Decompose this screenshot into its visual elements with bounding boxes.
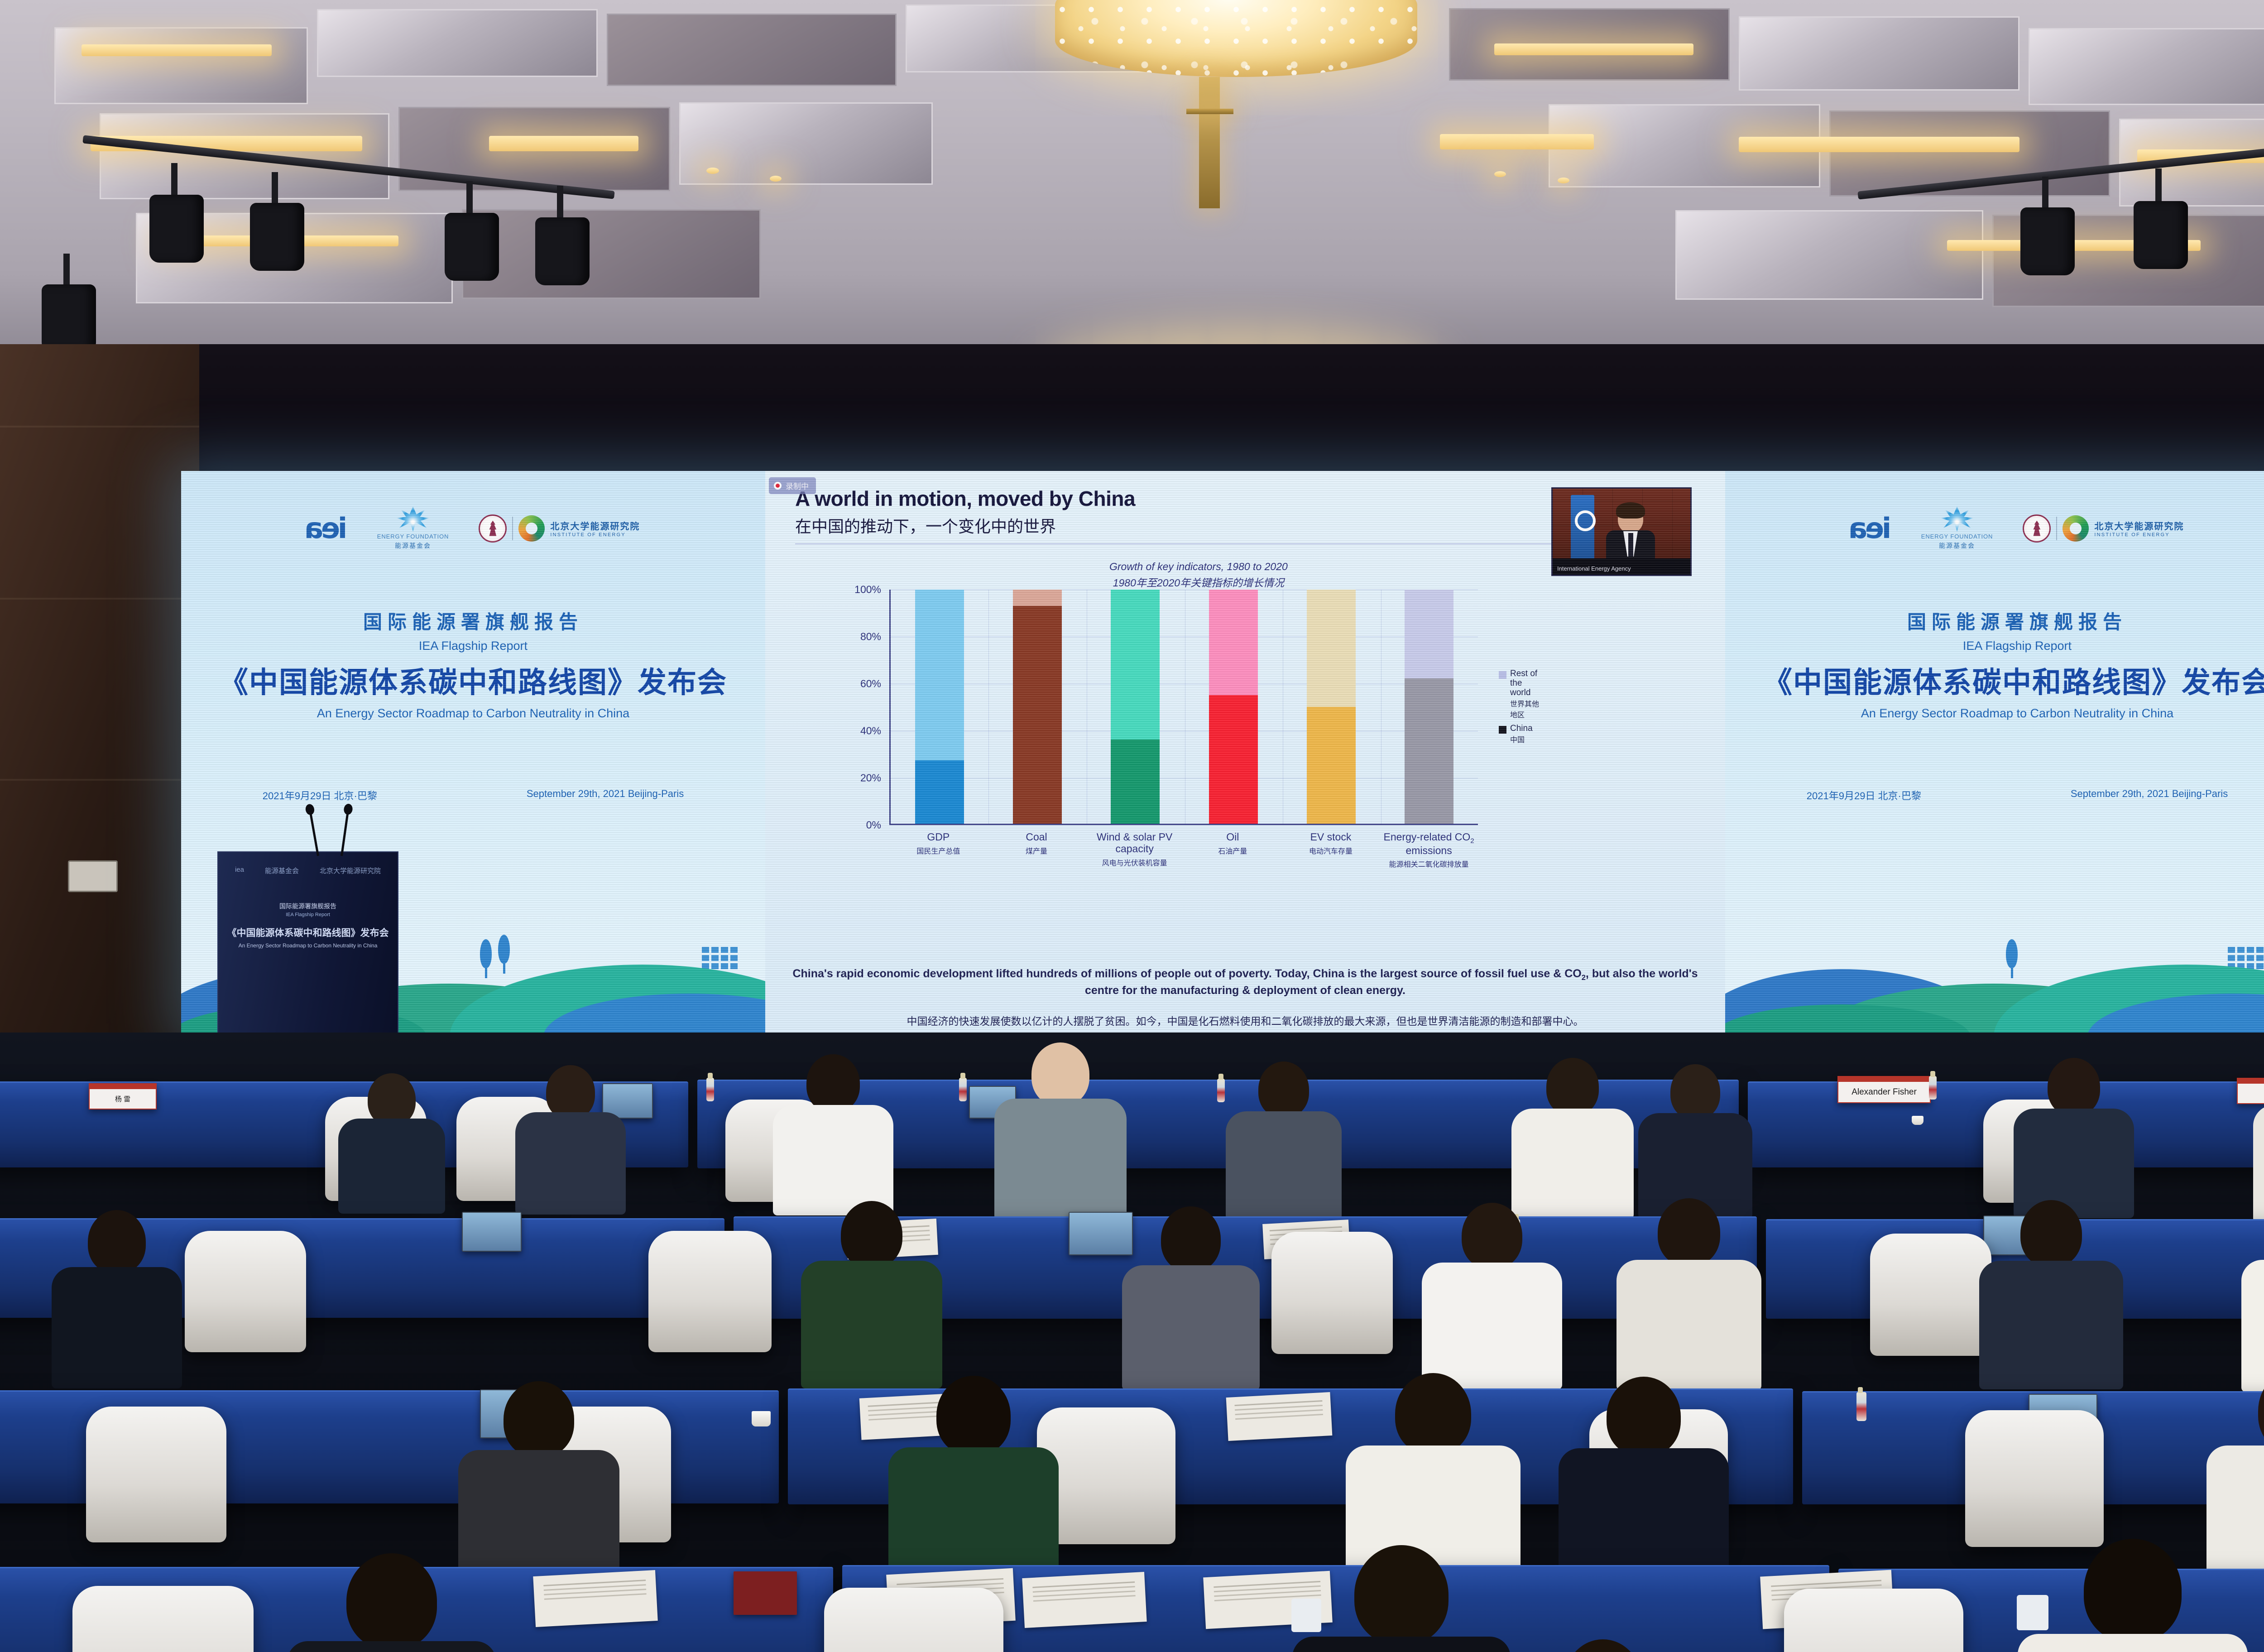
logo-row: iea ENERGY FOUNDATION 能源基金会 北京大学能源研究院 IN… — [181, 506, 765, 550]
tea-cup — [752, 1411, 771, 1426]
x-axis-label: EV stock电动汽车存量 — [1283, 831, 1378, 869]
bar-column — [1405, 590, 1453, 824]
attendee — [2010, 1058, 2137, 1214]
conference-hall-photo: iea ENERGY FOUNDATION 能源基金会 北京大学能源研究院 IN… — [0, 0, 2264, 1652]
podium-logo-pku: 北京大学能源研究院 — [320, 866, 381, 875]
podium-logo-ef: 能源基金会 — [265, 866, 299, 875]
chart-title-cn: 1980年至2020年关键指标的增长情况 — [1109, 574, 1288, 590]
growth-indicators-chart: 0% 20% 40% 60% 80% 100% — [833, 590, 1540, 866]
x-axis-label: Oil石油产量 — [1185, 831, 1280, 869]
podium-line2-en: An Energy Sector Roadmap to Carbon Neutr… — [218, 942, 398, 949]
podium-text-block: 国际能源署旗舰报告 IEA Flagship Report 《中国能源体系碳中和… — [218, 902, 398, 949]
pku-seal-icon — [2023, 514, 2051, 543]
attendee — [770, 1054, 897, 1211]
attendee — [335, 1073, 448, 1209]
attendee — [1974, 1200, 2128, 1384]
attendee — [1223, 1061, 1345, 1215]
energy-foundation-cn: 能源基金会 — [1939, 541, 1975, 550]
panel-line2-cn: 《中国能源体系碳中和路线图》发布会 — [1725, 659, 2264, 701]
bar-column — [1013, 590, 1062, 824]
led-video-wall: iea ENERGY FOUNDATION 能源基金会 北京大学能源研究院 IN… — [181, 471, 2264, 1037]
x-label-cn: 能源相关二氧化碳排放量 — [1381, 858, 1477, 869]
panel-title-block: 国际能源署旗舰报告 IEA Flagship Report 《中国能源体系碳中和… — [181, 607, 765, 720]
energy-foundation-logo: ENERGY FOUNDATION 能源基金会 — [1921, 506, 1993, 550]
ceiling-coffer — [54, 27, 308, 104]
date-en: September 29th, 2021 Beijing-Paris — [527, 788, 684, 802]
attendee — [2010, 1539, 2255, 1652]
podium-line1-en: IEA Flagship Report — [218, 912, 398, 917]
downlight — [1494, 171, 1506, 177]
x-label-cn: 石油产量 — [1185, 845, 1280, 856]
audience-floor: 杨 雷 Alexander Fisher — [0, 1032, 2264, 1652]
laptop[interactable] — [462, 1212, 522, 1252]
ceiling-coffer — [607, 14, 897, 86]
pku-institute-of-energy-logo: 北京大学能源研究院 INSTITUTE OF ENERGY — [479, 514, 640, 543]
chandelier-crystals — [1055, 0, 1417, 77]
y-tick: 0% — [866, 819, 881, 831]
face-mask — [2017, 1595, 2048, 1630]
panel-line2-en: An Energy Sector Roadmap to Carbon Neutr… — [1725, 706, 2264, 720]
attendee — [1417, 1203, 1567, 1383]
led-center-slide-panel: 录制中 A world in motion, moved by China 在中… — [765, 471, 1725, 1037]
energy-foundation-cn: 能源基金会 — [395, 541, 431, 550]
energy-foundation-en: ENERGY FOUNDATION — [377, 533, 449, 540]
podium-logo-iea: iea — [235, 866, 244, 875]
water-bottle — [1856, 1392, 1866, 1421]
slide-divider — [795, 543, 1683, 544]
recording-badge: 录制中 — [769, 477, 816, 494]
cove-light — [1440, 134, 1594, 149]
downlight — [1558, 178, 1569, 183]
attendee — [512, 1065, 629, 1210]
slide-caption-cn: 中国经济的快速发展使数以亿计的人摆脱了贫困。如今，中国是化石燃料使用和二氧化碳排… — [781, 1013, 1710, 1028]
solar-panel-icon — [702, 947, 738, 969]
stage-spotlight — [250, 203, 304, 271]
attendee — [1118, 1206, 1263, 1384]
attendee — [2250, 1051, 2264, 1217]
x-label-cn: 国民生产总值 — [891, 845, 986, 856]
tea-cup — [1912, 1116, 1923, 1125]
stage-spotlight — [2134, 201, 2188, 269]
panel-line2-en: An Energy Sector Roadmap to Carbon Neutr… — [181, 706, 765, 720]
attendee — [1508, 1639, 1698, 1652]
cove-light — [1739, 137, 2019, 152]
energy-burst-icon — [1940, 506, 1974, 532]
attendee — [2237, 1196, 2264, 1385]
stage-spotlight — [42, 284, 96, 352]
legend-swatch — [1499, 671, 1506, 679]
panel-line1-en: IEA Flagship Report — [181, 639, 765, 653]
stage-spotlight — [535, 217, 590, 285]
bar-segment-china — [1209, 695, 1258, 824]
landscape-graphic — [1725, 888, 2264, 1037]
stage-spotlight — [2020, 207, 2075, 275]
attendee — [797, 1201, 946, 1382]
logo-divider — [512, 517, 513, 540]
energy-foundation-en: ENERGY FOUNDATION — [1921, 533, 1993, 540]
logo-row: iea ENERGY FOUNDATION 能源基金会 北京大学能源研究院 IN… — [1725, 506, 2264, 550]
bar-segment-china — [1405, 678, 1453, 824]
chart-legend: Rest of the world 世界其他地区 China 中国 — [1499, 669, 1540, 749]
wall-control-panel[interactable] — [68, 860, 118, 892]
bar-segment-china — [1013, 606, 1062, 824]
bar-column — [1307, 590, 1356, 824]
chair[interactable] — [86, 1407, 226, 1542]
chair[interactable] — [185, 1231, 306, 1352]
date-en: September 29th, 2021 Beijing-Paris — [2071, 788, 2228, 802]
podium-line1-cn: 国际能源署旗舰报告 — [218, 902, 398, 911]
energy-burst-icon — [396, 506, 430, 532]
legend-label-cn: 世界其他地区 — [1510, 698, 1540, 720]
x-label-cn: 煤产量 — [989, 845, 1084, 856]
legend-label-en: Rest of the world — [1510, 669, 1540, 698]
chart-title-en: Growth of key indicators, 1980 to 2020 — [1109, 561, 1288, 573]
cove-light — [82, 44, 272, 56]
x-axis-label: Energy-related CO2 emissions能源相关二氧化碳排放量 — [1381, 831, 1477, 869]
attendee — [1286, 1545, 1517, 1652]
ceiling-coffer — [2029, 28, 2264, 105]
panel-line1-cn: 国际能源署旗舰报告 — [1725, 607, 2264, 634]
bar-column — [915, 590, 964, 824]
name-card-yang-lei: 杨 雷 — [89, 1083, 157, 1109]
panel-line1-cn: 国际能源署旗舰报告 — [181, 607, 765, 634]
panel-line2-cn: 《中国能源体系碳中和路线图》发布会 — [181, 659, 765, 701]
video-caption: International Energy Agency — [1557, 565, 1631, 572]
main-chandelier — [1055, 0, 1417, 149]
date-cn: 2021年9月29日 北京·巴黎 — [1807, 788, 1921, 802]
y-tick: 20% — [860, 772, 881, 784]
pku-institute-of-energy-logo: 北京大学能源研究院 INSTITUTE OF ENERGY — [2023, 514, 2184, 543]
tree-icon — [2006, 939, 2018, 978]
panel-dateline: 2021年9月29日 北京·巴黎 September 29th, 2021 Be… — [181, 788, 765, 802]
chair[interactable] — [1870, 1234, 1991, 1356]
ceiling-coffer — [317, 9, 598, 77]
record-dot-icon — [774, 482, 782, 490]
iea-logo: iea — [1851, 512, 1891, 545]
document — [533, 1570, 657, 1627]
chair[interactable] — [1784, 1589, 1963, 1652]
pku-logo-cn: 北京大学能源研究院 — [2094, 519, 2184, 532]
red-notebook — [734, 1571, 797, 1615]
legend-label-en: China — [1510, 724, 1533, 734]
attendee — [993, 1042, 1128, 1215]
chair[interactable] — [1271, 1232, 1393, 1354]
x-label-cn: 风电与光伏装机容量 — [1087, 857, 1182, 868]
bar-segment-china — [1111, 740, 1160, 824]
pku-seal-icon — [479, 514, 507, 543]
bar-segment-china — [1307, 707, 1356, 824]
chandelier-column-ring — [1186, 109, 1233, 114]
solar-panel-icon — [2228, 947, 2264, 969]
institute-swirl-icon — [518, 515, 545, 542]
attendee — [1508, 1058, 1637, 1215]
ceiling-coffer — [1675, 210, 1983, 300]
chair[interactable] — [72, 1586, 254, 1652]
iea-logo: iea — [307, 512, 347, 545]
tree-icon — [498, 935, 510, 974]
attendee — [49, 1210, 185, 1382]
x-axis-labels: GDP国民生产总值Coal煤产量Wind & solar PV capacity… — [889, 831, 1478, 869]
document — [1226, 1392, 1333, 1441]
logo-divider — [2056, 517, 2057, 540]
y-tick: 40% — [860, 725, 881, 737]
pku-logo-cn: 北京大学能源研究院 — [550, 519, 640, 532]
downlight — [706, 168, 719, 174]
pku-logo-en: INSTITUTE OF ENERGY — [2094, 532, 2184, 538]
chair[interactable] — [648, 1231, 772, 1352]
cove-light — [1494, 43, 1693, 55]
x-label-en: Energy-related CO2 emissions — [1381, 831, 1477, 856]
stage-spotlight — [445, 213, 499, 281]
attendee — [883, 1376, 1064, 1590]
x-label-en: Coal — [989, 831, 1084, 843]
legend-swatch — [1499, 726, 1506, 734]
date-cn: 2021年9月29日 北京·巴黎 — [263, 788, 377, 802]
x-axis-label: GDP国民生产总值 — [891, 831, 986, 869]
panel-line1-en: IEA Flagship Report — [1725, 639, 2264, 653]
y-tick: 60% — [860, 678, 881, 690]
stage-spotlight — [149, 195, 204, 263]
bar-column — [1209, 590, 1258, 824]
bar-segment-china — [915, 760, 964, 824]
attendee — [1553, 1377, 1734, 1590]
x-axis-label: Coal煤产量 — [989, 831, 1084, 869]
podium-logo-row: iea 能源基金会 北京大学能源研究院 — [218, 852, 398, 875]
face-mask — [1291, 1599, 1321, 1632]
y-axis: 0% 20% 40% 60% 80% 100% — [833, 590, 887, 825]
water-bottle — [959, 1078, 967, 1101]
x-label-en: EV stock — [1283, 831, 1378, 843]
bar-series — [891, 590, 1478, 824]
cove-light — [489, 136, 638, 151]
chandelier-tier — [1055, 0, 1417, 77]
attendee — [1635, 1064, 1756, 1214]
y-tick: 100% — [854, 584, 881, 596]
y-tick: 80% — [860, 631, 881, 643]
presentation-slide: 录制中 A world in motion, moved by China 在中… — [765, 471, 1725, 1037]
water-bottle — [1929, 1076, 1937, 1100]
chart-title-block: Growth of key indicators, 1980 to 2020 1… — [1109, 561, 1288, 590]
downlight — [770, 176, 782, 182]
x-label-cn: 电动汽车存量 — [1283, 845, 1378, 856]
x-label-en: Wind & solar PV capacity — [1087, 831, 1182, 855]
attendee — [1612, 1198, 1766, 1384]
document — [1022, 1572, 1146, 1628]
plot-area — [889, 590, 1478, 825]
institute-swirl-icon — [2063, 515, 2089, 542]
pku-logo-en: INSTITUTE OF ENERGY — [550, 532, 640, 538]
slide-caption-en: China's rapid economic development lifte… — [781, 966, 1710, 998]
podium-line2-cn: 《中国能源体系碳中和路线图》发布会 — [218, 926, 398, 939]
spotlight-arm — [557, 186, 563, 222]
water-bottle — [706, 1078, 714, 1101]
panel-dateline: 2021年9月29日 北京·巴黎 September 29th, 2021 Be… — [1725, 788, 2264, 802]
ceiling-coffer — [1739, 16, 2019, 91]
chair[interactable] — [1965, 1410, 2104, 1547]
panel-title-block: 国际能源署旗舰报告 IEA Flagship Report 《中国能源体系碳中和… — [1725, 607, 2264, 720]
x-label-en: Oil — [1185, 831, 1280, 843]
legend-item-rest-of-world: Rest of the world 世界其他地区 — [1499, 669, 1540, 720]
chandelier-column — [1199, 77, 1220, 208]
chair[interactable] — [824, 1588, 1003, 1652]
legend-label-cn: 中国 — [1510, 734, 1533, 744]
x-axis-label: Wind & solar PV capacity风电与光伏装机容量 — [1087, 831, 1182, 869]
led-right-branding-panel: iea ENERGY FOUNDATION 能源基金会 北京大学能源研究院 IN… — [1725, 471, 2264, 1037]
recording-label: 录制中 — [786, 480, 809, 491]
tree-icon — [480, 939, 492, 978]
energy-foundation-logo: ENERGY FOUNDATION 能源基金会 — [377, 506, 449, 550]
speaker-video-tile[interactable]: International Energy Agency — [1551, 487, 1692, 576]
legend-item-china: China 中国 — [1499, 724, 1540, 744]
name-card-alexander-fisher: Alexander Fisher — [1837, 1076, 1931, 1103]
x-label-en: GDP — [891, 831, 986, 843]
attendee — [281, 1553, 503, 1652]
ceiling-coffer — [462, 209, 761, 299]
upper-dark-wall — [0, 344, 2264, 480]
un-flag-icon — [1571, 495, 1594, 563]
bar-column — [1111, 590, 1160, 824]
